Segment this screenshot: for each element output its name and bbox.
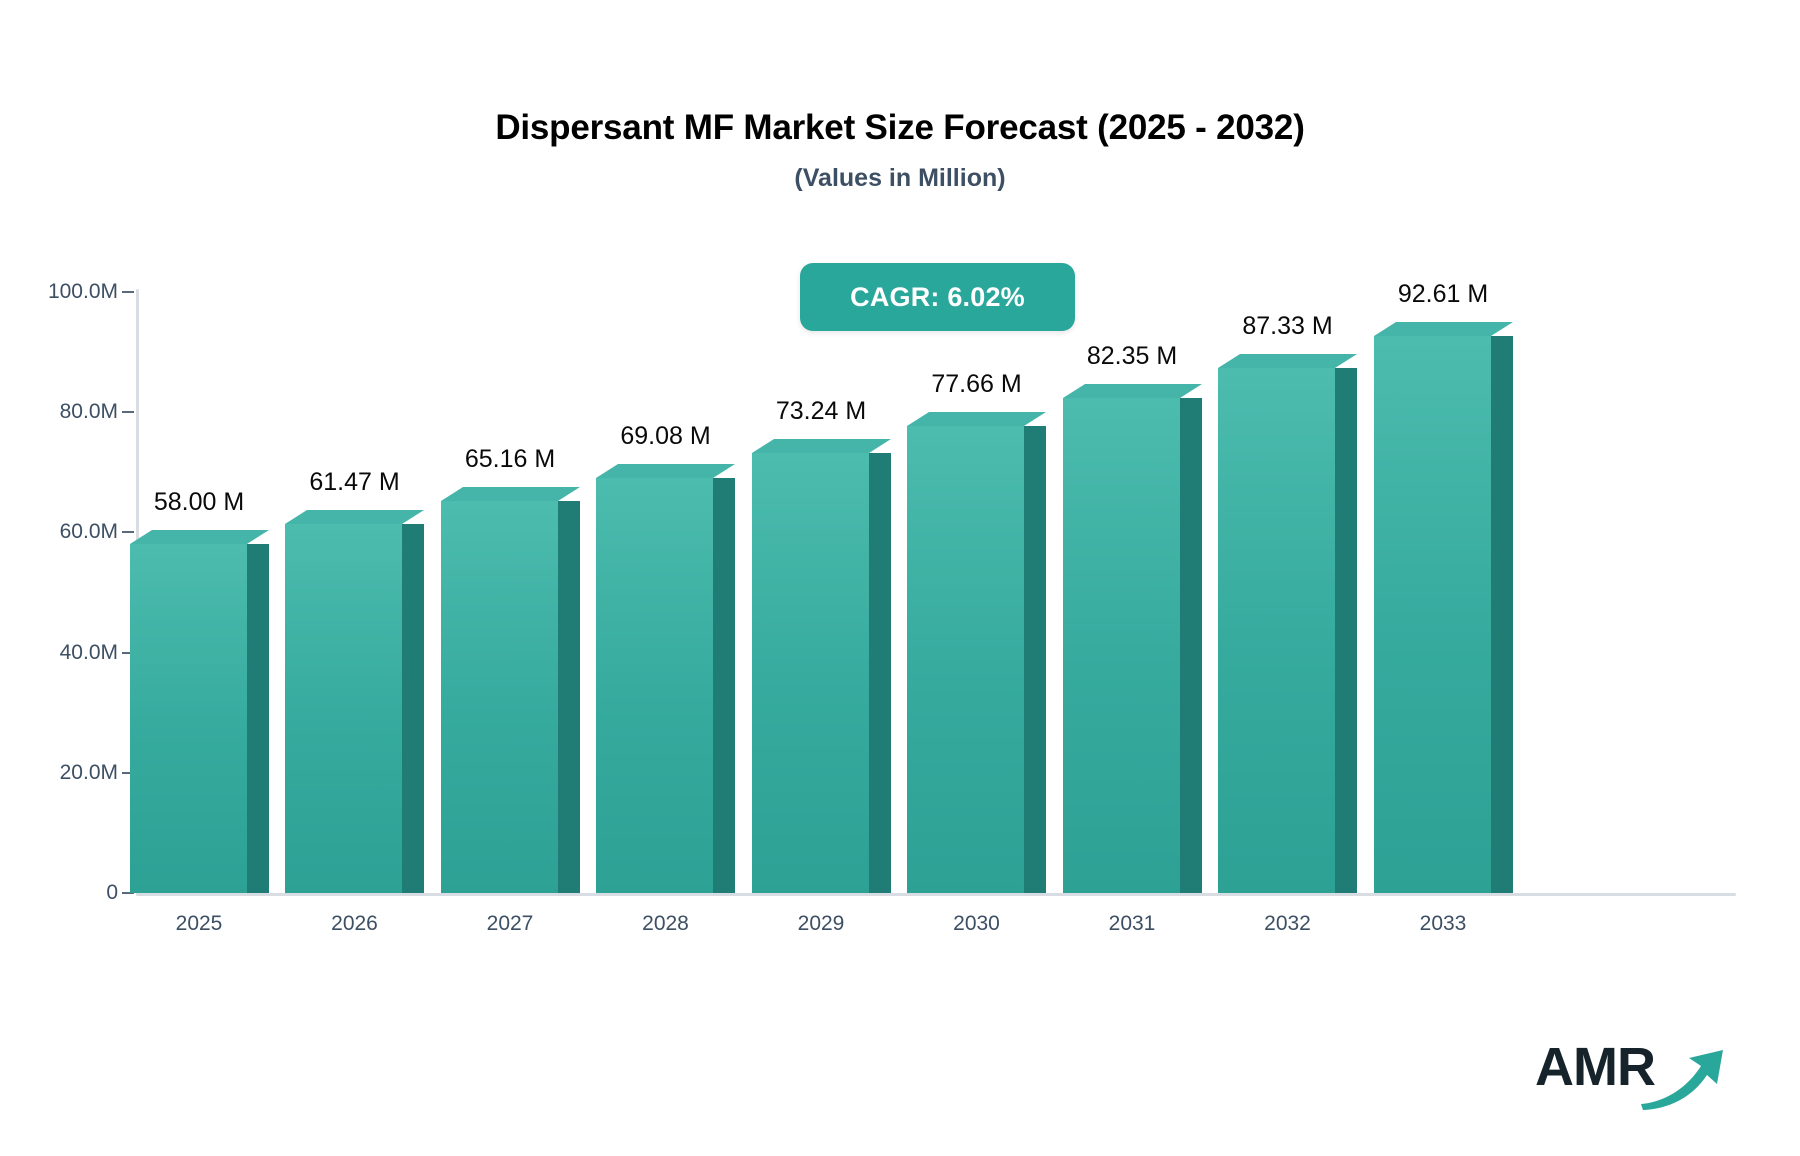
y-axis-tick-label: 40.0M: [0, 641, 118, 665]
bar: [596, 464, 735, 893]
bar-top-face: [752, 439, 891, 453]
y-axis-tick-label: 60.0M: [0, 520, 118, 544]
bar-top-face: [285, 510, 424, 524]
chart-canvas: Dispersant MF Market Size Forecast (2025…: [0, 0, 1800, 1156]
bar-value-label: 73.24 M: [711, 397, 931, 426]
bar-top-face: [1218, 354, 1357, 368]
bar: [752, 439, 891, 893]
bar-value-label: 92.61 M: [1333, 280, 1553, 309]
bar-value-label: 82.35 M: [1022, 342, 1242, 371]
amr-logo-text: AMR: [1535, 1040, 1655, 1094]
bar-front-face: [441, 501, 558, 893]
bar-front-face: [752, 453, 869, 893]
bar-front-face: [1218, 368, 1335, 893]
bar-side-face: [869, 453, 891, 893]
bar-side-face: [402, 524, 424, 893]
bar-front-face: [907, 426, 1024, 893]
bar-front-face: [285, 524, 402, 893]
bar-front-face: [1374, 336, 1491, 893]
bar: [130, 530, 269, 893]
bar-front-face: [596, 478, 713, 893]
bar-side-face: [1180, 398, 1202, 893]
x-axis-tick-label: 2033: [1343, 912, 1543, 936]
bar-top-face: [907, 412, 1046, 426]
bar: [1374, 322, 1513, 893]
bar: [1218, 354, 1357, 893]
y-axis-tick-label: 0: [0, 881, 118, 905]
y-axis-tick-label: 100.0M: [0, 280, 118, 304]
bar-top-face: [596, 464, 735, 478]
bar-side-face: [558, 501, 580, 893]
amr-logo: AMR: [1535, 1040, 1725, 1112]
bar: [907, 412, 1046, 893]
bar-side-face: [1491, 336, 1513, 893]
bar-side-face: [1335, 368, 1357, 893]
bar-top-face: [1374, 322, 1513, 336]
bar-front-face: [130, 544, 247, 893]
x-axis-line: [136, 893, 1736, 896]
bar-top-face: [441, 487, 580, 501]
bar-value-label: 87.33 M: [1178, 312, 1398, 341]
plot-area: 100.0M80.0M60.0M40.0M20.0M0 58.00 M61.47…: [0, 0, 1800, 1156]
y-axis-tick-label: 20.0M: [0, 761, 118, 785]
bar-front-face: [1063, 398, 1180, 893]
y-axis-tick-label: 80.0M: [0, 400, 118, 424]
bar-value-label: 77.66 M: [867, 370, 1087, 399]
bar: [441, 487, 580, 893]
y-axis-tick-mark: [122, 411, 134, 413]
bar-side-face: [1024, 426, 1046, 893]
growth-arrow-icon: [1639, 1044, 1727, 1115]
bar-value-label: 69.08 M: [556, 422, 776, 451]
bar: [285, 510, 424, 893]
bar-side-face: [713, 478, 735, 893]
bar-top-face: [1063, 384, 1202, 398]
bar-top-face: [130, 530, 269, 544]
bar: [1063, 384, 1202, 893]
y-axis-tick-mark: [122, 291, 134, 293]
bar-side-face: [247, 544, 269, 893]
